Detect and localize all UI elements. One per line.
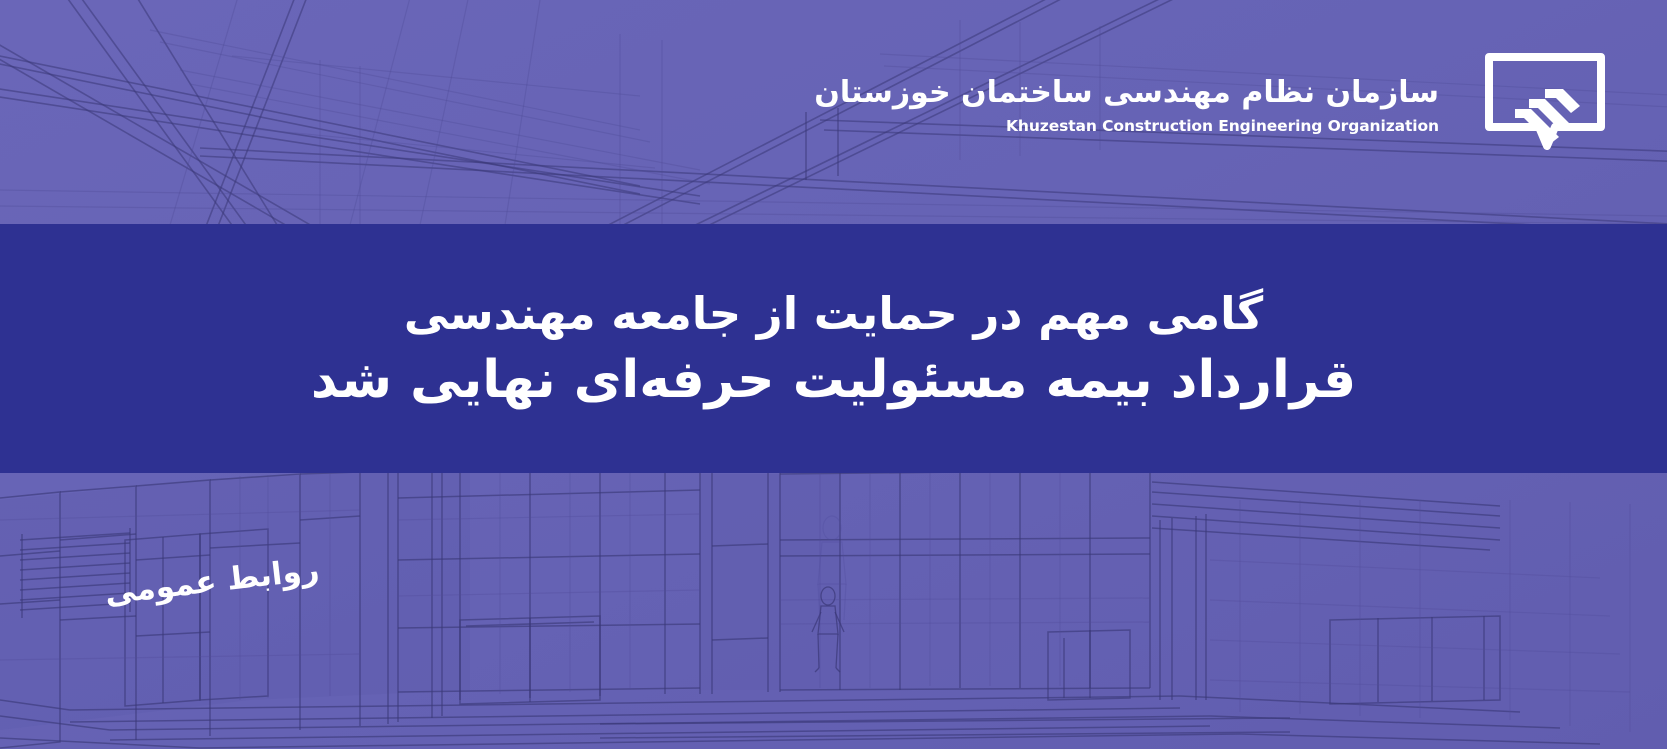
organization-name-en: Khuzestan Construction Engineering Organ… (814, 119, 1439, 135)
headline-line-1: گامی مهم در حمایت از جامعه مهندسی (404, 290, 1263, 337)
headline-line-2: قرارداد بیمه مسئولیت حرفه‌ای نهایی شد (311, 353, 1356, 408)
organization-branding: سازمان نظام مهندسی ساختمان خوزستان Khuze… (814, 78, 1439, 135)
news-poster: سازمان نظام مهندسی ساختمان خوزستان Khuze… (0, 0, 1667, 749)
organization-name-fa: سازمان نظام مهندسی ساختمان خوزستان (814, 78, 1439, 108)
poster-header: سازمان نظام مهندسی ساختمان خوزستان Khuze… (0, 0, 1667, 224)
footer-credit: روابط عمومی (103, 576, 318, 613)
organization-logo-icon (1485, 53, 1605, 150)
headline-banner: گامی مهم در حمایت از جامعه مهندسی قراردا… (0, 224, 1667, 473)
